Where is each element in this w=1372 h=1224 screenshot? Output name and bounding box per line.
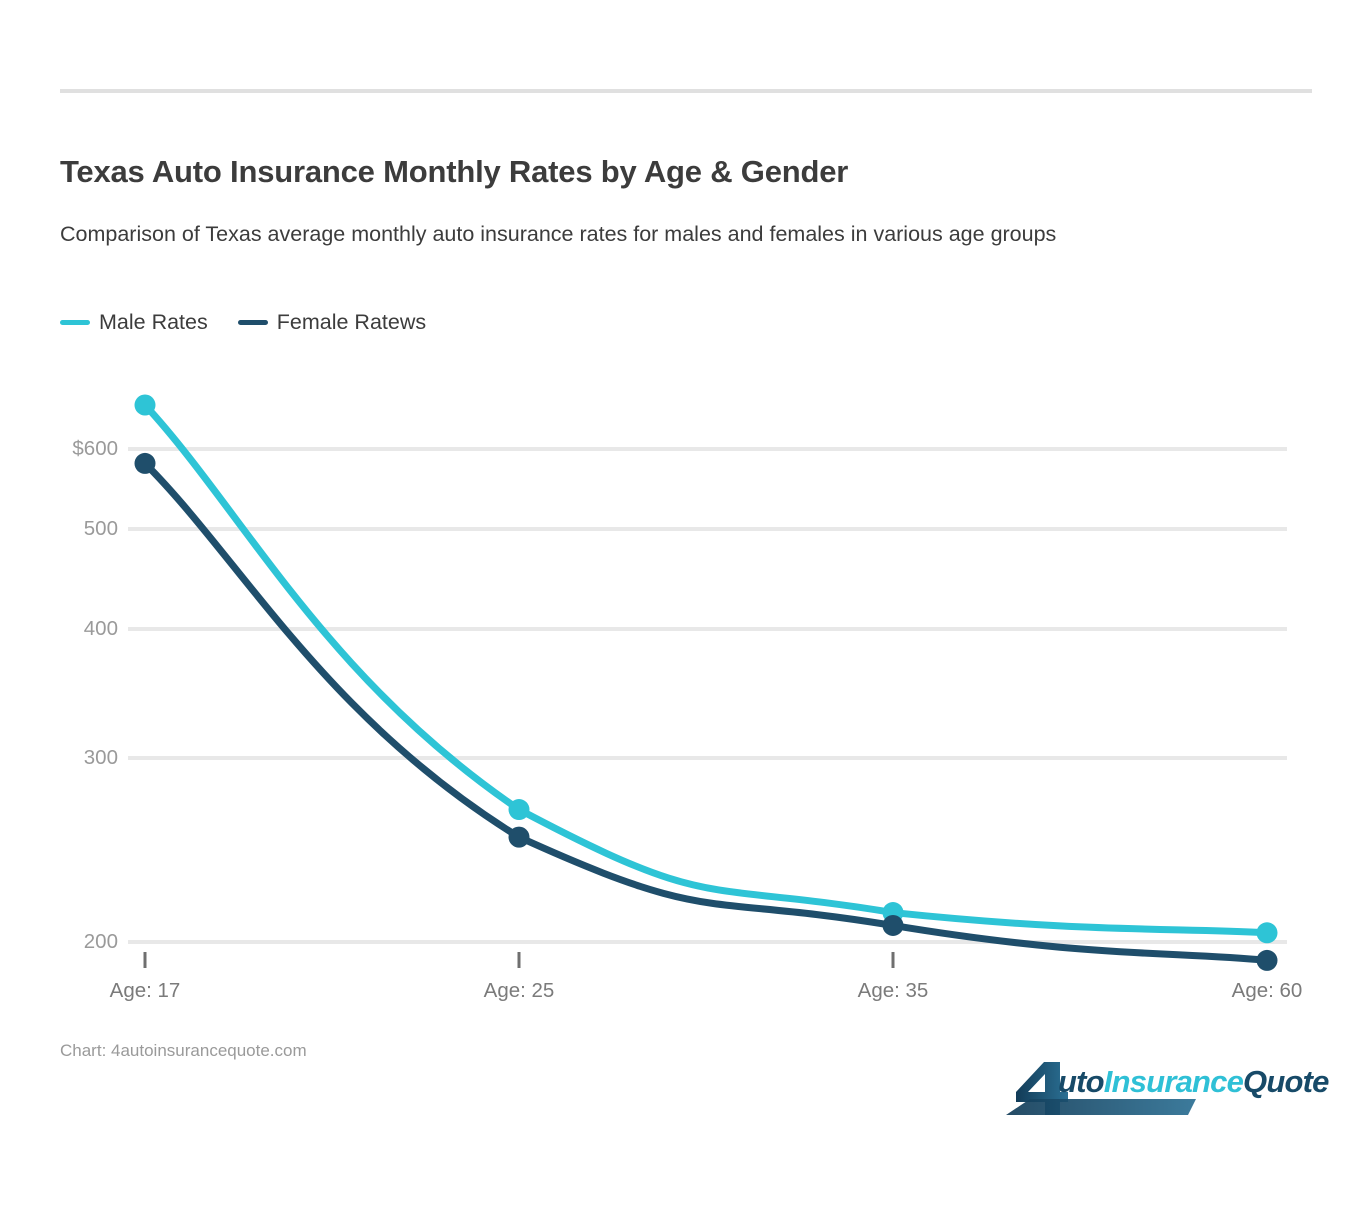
ytick-label-400: 400 [0, 617, 118, 641]
logo-wordmark: utoInsuranceQuote [1058, 1064, 1329, 1100]
chart-page: Texas Auto Insurance Monthly Rates by Ag… [0, 0, 1372, 1224]
ytick-label-600: $600 [0, 437, 118, 461]
ytick-label-300: 300 [0, 746, 118, 770]
data-point-female-3[interactable] [1257, 950, 1278, 971]
page-title: Texas Auto Insurance Monthly Rates by Ag… [60, 154, 848, 190]
brand-logo[interactable]: utoInsuranceQuote [1000, 1058, 1312, 1120]
data-point-male-2[interactable] [883, 902, 904, 923]
legend-swatch-icon [60, 320, 90, 325]
ytick-label-500: 500 [0, 517, 118, 541]
logo-word-insurance: Insurance [1104, 1064, 1243, 1099]
data-point-male-0[interactable] [135, 395, 156, 416]
legend-swatch-icon [238, 320, 268, 325]
top-divider [60, 89, 1312, 93]
page-subtitle: Comparison of Texas average monthly auto… [60, 222, 1056, 247]
logo-word-auto: uto [1058, 1064, 1104, 1099]
xtick-label-1: Age: 25 [484, 979, 555, 1003]
ytick-label-200: 200 [0, 930, 118, 954]
data-point-female-1[interactable] [509, 827, 530, 848]
chart-source-note: Chart: 4autoinsurancequote.com [60, 1041, 307, 1061]
series-line-male[interactable] [145, 405, 1267, 933]
legend-item-female[interactable]: Female Ratews [238, 310, 426, 335]
logo-word-quote: Quote [1243, 1064, 1329, 1099]
data-point-female-0[interactable] [135, 453, 156, 474]
legend-label: Female Ratews [277, 310, 426, 335]
data-point-male-1[interactable] [509, 799, 530, 820]
chart-legend: Male RatesFemale Ratews [60, 307, 456, 337]
data-point-female-2[interactable] [883, 915, 904, 936]
data-point-male-3[interactable] [1257, 922, 1278, 943]
xtick-label-2: Age: 35 [858, 979, 929, 1003]
legend-item-male[interactable]: Male Rates [60, 310, 208, 335]
series-line-female[interactable] [145, 463, 1267, 960]
xtick-label-0: Age: 17 [110, 979, 181, 1003]
xtick-label-3: Age: 60 [1232, 979, 1303, 1003]
legend-label: Male Rates [99, 310, 208, 335]
